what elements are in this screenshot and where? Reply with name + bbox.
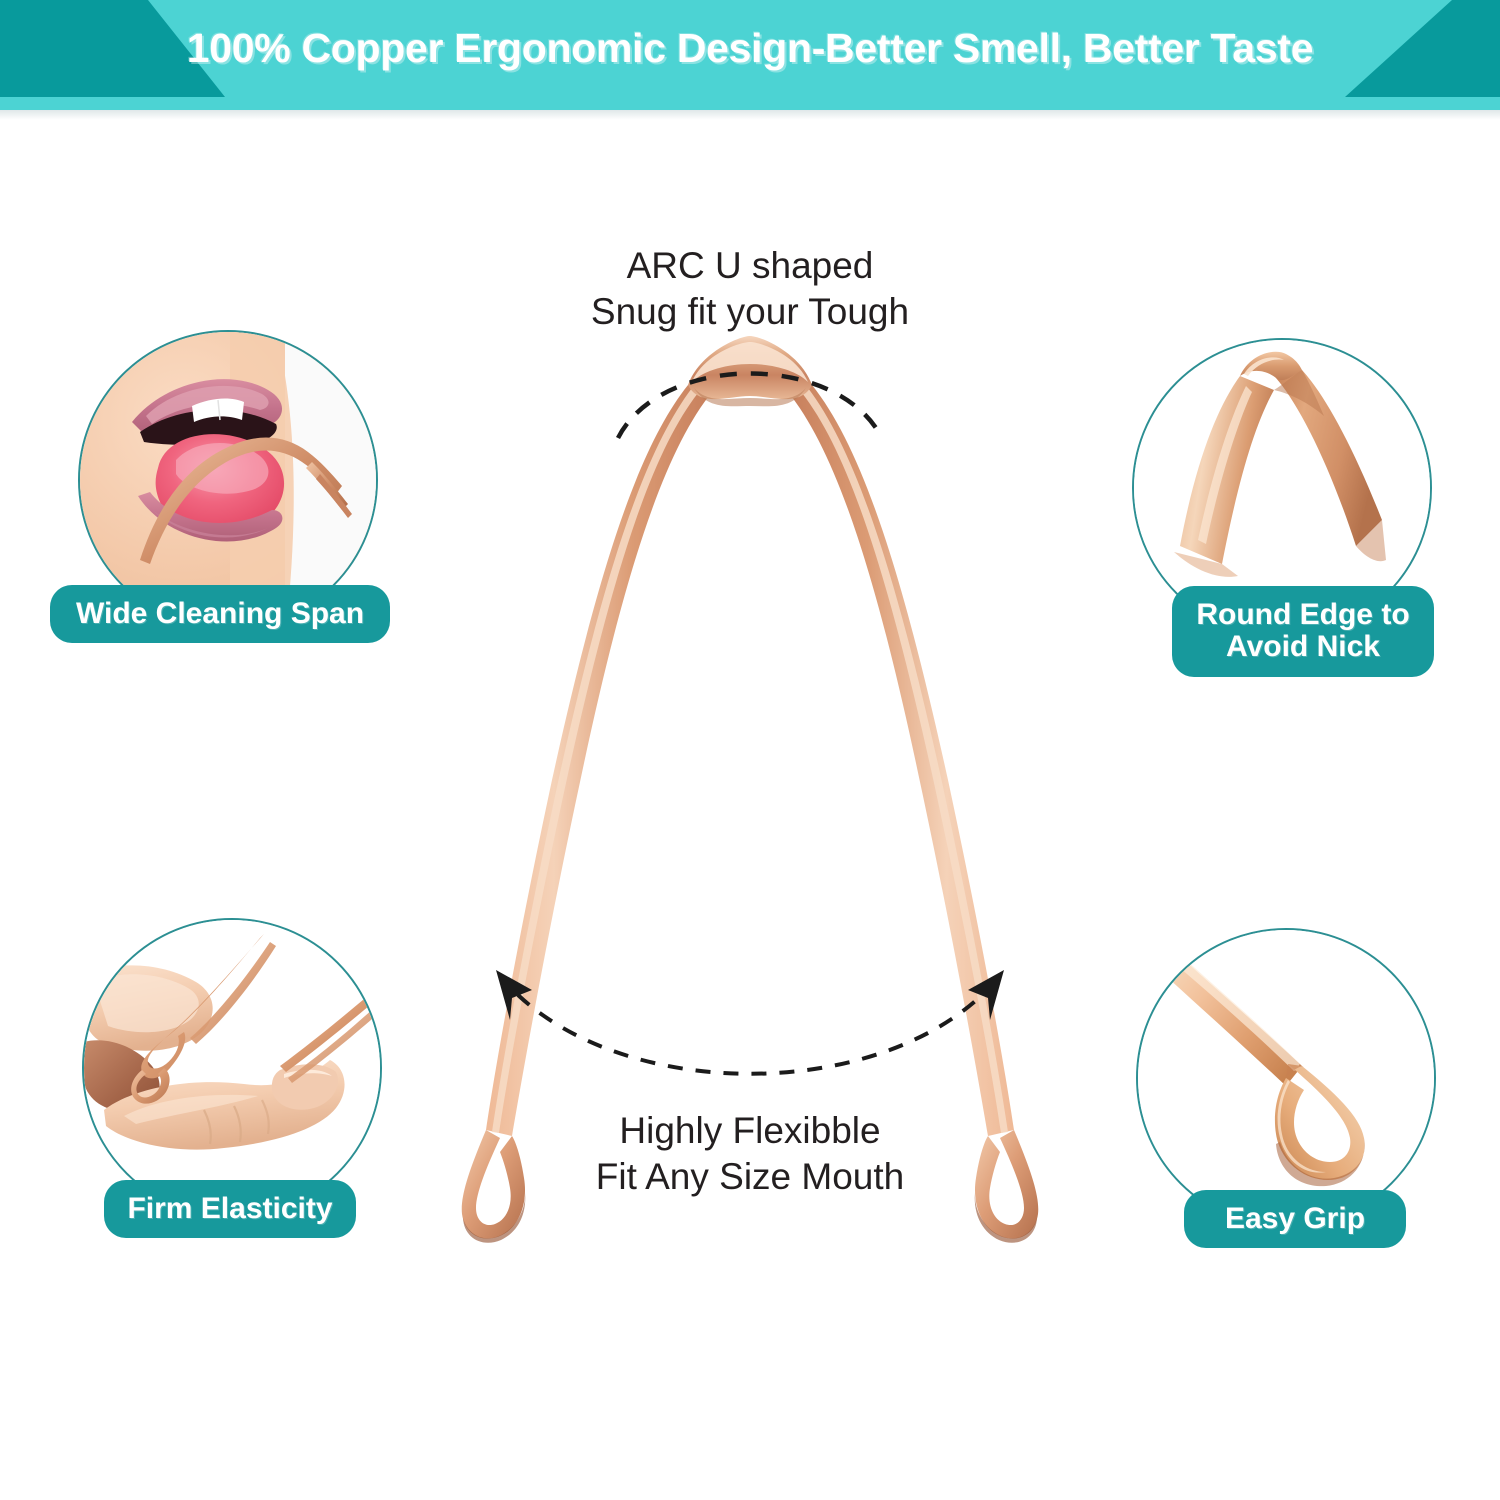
dashed-arrow-arc-bottom xyxy=(496,970,1004,1074)
feature-label-easy-grip: Easy Grip xyxy=(1184,1190,1406,1248)
banner-drop-shadow xyxy=(0,110,1500,120)
fingers-flexing-scraper-photo xyxy=(84,920,380,1216)
scraper-left-arm xyxy=(486,385,712,1136)
teardrop-loop-handle-macro-photo xyxy=(1138,930,1434,1226)
feature-label-round-edge-to-avoid-nick: Round Edge to Avoid Nick xyxy=(1172,586,1434,677)
feature-image-circle-easy-grip xyxy=(1136,928,1436,1228)
mouth-tongue-scraper-photo xyxy=(80,332,376,628)
annotation-bottom-highly-flexible: Highly Flexibble Fit Any Size Mouth xyxy=(450,1108,1050,1201)
scraper-right-arm xyxy=(788,385,1014,1136)
banner-title: 100% Copper Ergonomic Design-Better Smel… xyxy=(0,0,1500,97)
feature-label-firm-elasticity: Firm Elasticity xyxy=(104,1180,356,1238)
feature-label-wide-cleaning-span: Wide Cleaning Span xyxy=(50,585,390,643)
header-banner: 100% Copper Ergonomic Design-Better Smel… xyxy=(0,0,1500,110)
scraper-top-arc-blade xyxy=(688,336,812,406)
feature-image-circle-firm-elasticity xyxy=(82,918,382,1218)
annotation-top-arc-u-shaped: ARC U shaped Snug fit your Tough xyxy=(450,243,1050,336)
